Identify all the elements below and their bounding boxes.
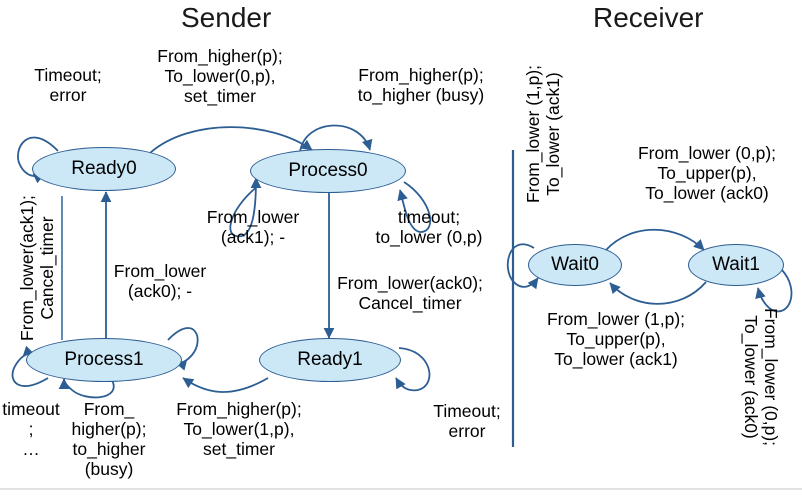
label-process0-self-timeout: timeout; to_lower (0,p) [355,208,503,248]
label-wait0-self: From_lower (1,p); To_lower (ack1) [524,42,564,226]
edge-wait0-to-wait1 [606,230,704,250]
label-process1-to-ready0: From_lower (ack0); - [96,262,224,302]
state-ready1[interactable]: Ready1 [259,338,401,382]
state-wait0[interactable]: Wait0 [528,244,622,286]
edge-ready1-self [396,348,429,390]
label-process0-self-busy: From_higher(p); to_higher (busy) [330,66,512,106]
label-process0-to-ready1: From_lower(ack0); Cancel_timer [328,274,492,314]
sender-title: Sender [181,2,271,34]
state-process0[interactable]: Process0 [250,149,406,193]
label-process0-self-ack1: From_lower (ack1); - [185,208,321,248]
receiver-title: Receiver [593,2,703,34]
label-wait1-to-wait0: From_lower (1,p); To_upper(p), To_lower … [524,310,708,370]
label-wait0-to-wait1: From_lower (0,p); To_upper(p), To_lower … [617,144,797,204]
label-process1-self-busy: From_ higher(p); to_higher (busy) [62,400,156,480]
state-wait1[interactable]: Wait1 [688,244,784,286]
label-ready1-to-process1: From_higher(p); To_lower(1,p), set_timer [152,400,326,460]
label-ready1-self: Timeout; error [410,402,524,442]
label-ready0-to-process0: From_higher(p); To_lower(0,p), set_timer [131,47,309,107]
edge-ready0-to-process0 [150,127,312,153]
state-diagram-canvas: Sender Receiver Ready0 Process0 Process1… [0,0,802,501]
label-wait1-self: From_lower (0,p); To_lower (ack0) [740,302,780,452]
label-process1-to-ready0-cancel: From_lower(ack1); Cancel_timer [18,188,58,348]
state-ready0[interactable]: Ready0 [32,147,176,191]
label-process1-self-timeout: timeout ; … [0,400,62,460]
edge-wait1-to-wait0 [610,282,706,304]
label-ready0-self: Timeout; error [8,66,128,106]
edge-process0-self-busy [300,125,370,152]
edge-ready1-to-process1 [183,378,268,392]
